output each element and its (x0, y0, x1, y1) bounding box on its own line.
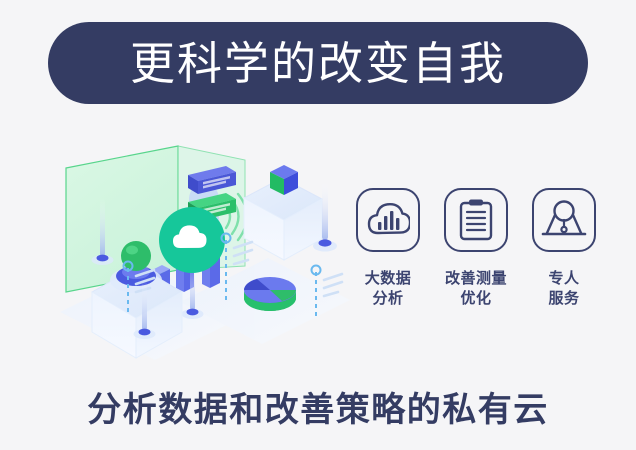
feature-label-line1: 改善测量 (445, 268, 507, 288)
cloud-bar-chart-icon (356, 188, 420, 252)
service-person-icon (532, 188, 596, 252)
feature-list: 大数据 分析 改善测量 优化 (352, 188, 600, 333)
feature-label-service: 专人 服务 (548, 268, 579, 309)
feature-item-bigdata[interactable]: 大数据 分析 (352, 188, 424, 309)
feature-item-service[interactable]: 专人 服务 (528, 188, 600, 309)
feature-label-line2: 服务 (548, 288, 579, 308)
feature-label-line2: 分析 (365, 288, 412, 308)
feature-item-measure[interactable]: 改善测量 优化 (440, 188, 512, 309)
header-banner: 更科学的改变自我 (48, 22, 588, 104)
feature-label-line2: 优化 (445, 288, 507, 308)
feature-label-measure: 改善测量 优化 (445, 268, 507, 309)
tagline: 分析数据和改善策略的私有云 (0, 382, 636, 431)
feature-label-bigdata: 大数据 分析 (365, 268, 412, 309)
clipboard-icon (444, 188, 508, 252)
feature-label-line1: 大数据 (365, 268, 412, 288)
feature-label-line1: 专人 (548, 268, 579, 288)
poster-root: 更科学的改变自我 (0, 0, 636, 450)
illustration-stage (30, 120, 360, 360)
page-title: 更科学的改变自我 (130, 41, 506, 86)
pie-chart-3d (244, 277, 296, 311)
